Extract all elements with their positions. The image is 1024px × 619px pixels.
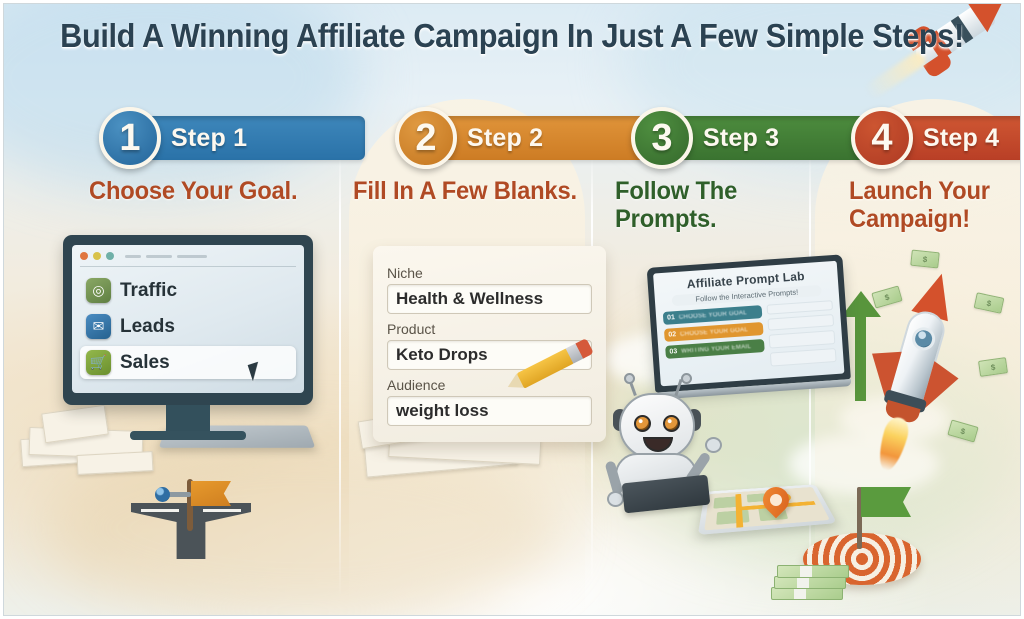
product-field-label: Product bbox=[387, 321, 592, 337]
signpost-flag bbox=[191, 481, 231, 506]
step-2-banner: Step 2 bbox=[427, 116, 653, 160]
step-header-2[interactable]: Step 2 2 Fill In A Few Blanks. bbox=[395, 107, 625, 205]
goal-option-sales[interactable]: 🛒 Sales bbox=[80, 346, 296, 379]
step-2-number-badge: 2 bbox=[395, 107, 457, 169]
goal-option-traffic[interactable]: ◎ Traffic bbox=[80, 274, 296, 307]
niche-field-label: Niche bbox=[387, 265, 592, 281]
robot-mouth bbox=[643, 437, 673, 452]
window-titlebar bbox=[80, 252, 296, 267]
monitor-stand-neck bbox=[166, 405, 210, 431]
step-4-banner-label: Step 4 bbox=[923, 124, 999, 153]
prompt-row-01-text: CHOOSE YOUR GOAL bbox=[679, 310, 747, 321]
step-header-3[interactable]: Step 3 3 Follow The Prompts. bbox=[631, 107, 851, 233]
goal-option-leads-label: Leads bbox=[120, 316, 175, 338]
robot-hand-right bbox=[705, 437, 722, 453]
robot-assistant bbox=[611, 375, 731, 515]
prompt-row-02-number: 02 bbox=[668, 331, 676, 339]
target-icon: ◎ bbox=[86, 278, 111, 303]
prompt-row-03-number: 03 bbox=[669, 348, 677, 356]
step-3-badge-row: Step 3 3 bbox=[631, 107, 851, 169]
niche-field-input[interactable]: Health & Wellness bbox=[387, 284, 592, 314]
dollar-bill-3 bbox=[978, 357, 1008, 377]
page-title: Build A Winning Affiliate Campaign In Ju… bbox=[39, 17, 986, 55]
affiliate-brief-form: Niche Health & Wellness Product Keto Dro… bbox=[373, 246, 606, 442]
laptop-lid: Affiliate Prompt Lab Follow the Interact… bbox=[647, 254, 851, 392]
laptop-screen: Affiliate Prompt Lab Follow the Interact… bbox=[653, 261, 844, 387]
divider-1 bbox=[339, 153, 341, 598]
window-dot-close[interactable] bbox=[80, 252, 88, 260]
step-1-number: 1 bbox=[119, 119, 140, 157]
step-4-subtitle-line1: Launch Your bbox=[849, 177, 1022, 205]
envelope-icon: ✉ bbox=[86, 314, 111, 339]
step-4-number: 4 bbox=[871, 119, 892, 157]
dollar-bill-5 bbox=[910, 250, 940, 269]
step-4-badge-row: Step 4 4 bbox=[851, 107, 1024, 169]
step-1-number-badge: 1 bbox=[99, 107, 161, 169]
monitor-stand-base bbox=[130, 431, 246, 440]
desktop-monitor: ◎ Traffic ✉ Leads 🛒 Sales bbox=[63, 235, 313, 440]
prompt-row-01-number: 01 bbox=[667, 314, 675, 322]
monitor-screen: ◎ Traffic ✉ Leads 🛒 Sales bbox=[72, 245, 304, 393]
step-header-4[interactable]: Step 4 4 Launch Your Campaign! bbox=[851, 107, 1024, 233]
step-2-number: 2 bbox=[415, 119, 436, 157]
shopping-cart-icon: 🛒 bbox=[86, 350, 111, 375]
window-dot-maximize[interactable] bbox=[106, 252, 114, 260]
goal-option-traffic-label: Traffic bbox=[120, 280, 177, 302]
step-2-badge-row: Step 2 2 bbox=[395, 107, 625, 169]
prompt-row-01[interactable]: 01 CHOOSE YOUR GOAL bbox=[663, 305, 762, 325]
prompt-row-02[interactable]: 02 CHOOSE YOUR GOAL bbox=[664, 322, 763, 342]
monitor-bezel: ◎ Traffic ✉ Leads 🛒 Sales bbox=[63, 235, 313, 405]
robot-eye-right bbox=[663, 415, 680, 432]
step-2-banner-label: Step 2 bbox=[467, 124, 543, 153]
step-1-badge-row: Step 1 1 bbox=[99, 107, 329, 169]
window-dot-minimize[interactable] bbox=[93, 252, 101, 260]
step-1-banner: Step 1 bbox=[131, 116, 365, 160]
goal-option-leads[interactable]: ✉ Leads bbox=[80, 310, 296, 343]
step-header-1[interactable]: Step 1 1 Choose Your Goal. bbox=[99, 107, 329, 205]
dollar-bill-4 bbox=[947, 419, 978, 442]
victory-flag bbox=[861, 487, 911, 517]
prompt-row-02-text: CHOOSE YOUR GOAL bbox=[680, 327, 748, 338]
prompt-row-03-text: WRITING YOUR EMAIL bbox=[681, 343, 751, 354]
robot-hand-left bbox=[607, 491, 624, 507]
step-3-number: 3 bbox=[651, 119, 672, 157]
infographic-canvas: Build A Winning Affiliate Campaign In Ju… bbox=[0, 0, 1024, 619]
robot-eye-left bbox=[634, 415, 651, 432]
rocket-flame bbox=[874, 415, 912, 474]
step-1-banner-label: Step 1 bbox=[171, 124, 247, 153]
signpost-ball bbox=[155, 487, 170, 502]
audience-field-input[interactable]: weight loss bbox=[387, 396, 592, 426]
robot-head bbox=[619, 393, 695, 459]
step-3-banner-label: Step 3 bbox=[703, 124, 779, 153]
step-4-subtitle-line2: Campaign! bbox=[849, 205, 1022, 233]
goal-option-sales-label: Sales bbox=[120, 352, 170, 374]
step-1-subtitle: Choose Your Goal. bbox=[89, 177, 317, 205]
step-3-subtitle: Follow The Prompts. bbox=[615, 177, 839, 233]
step-2-subtitle: Fill In A Few Blanks. bbox=[353, 177, 611, 205]
forked-road-signpost-icon bbox=[131, 479, 251, 559]
audience-field-label: Audience bbox=[387, 377, 592, 393]
prompt-row-03[interactable]: 03 WRITING YOUR EMAIL bbox=[665, 339, 764, 359]
laptop-preview-column bbox=[766, 300, 837, 370]
cash-stack bbox=[771, 565, 841, 599]
step-3-number-badge: 3 bbox=[631, 107, 693, 169]
